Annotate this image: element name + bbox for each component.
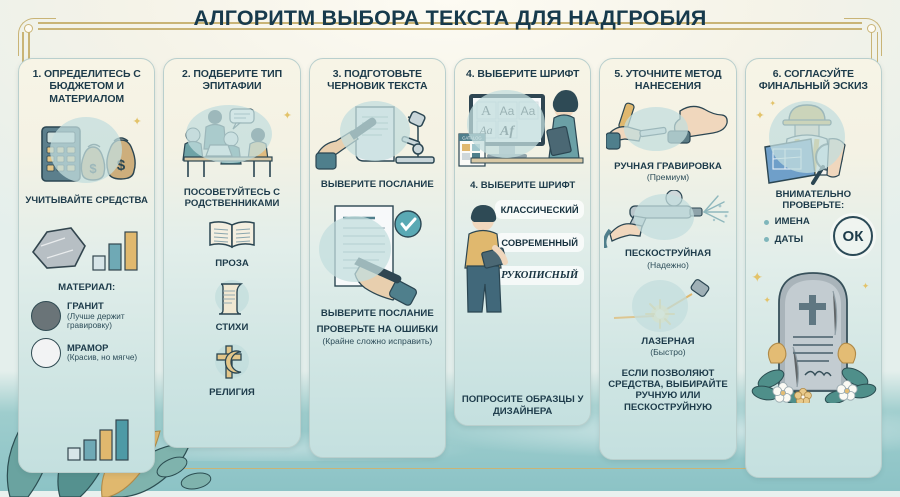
step-1-caption: УЧИТЫВАЙТЕ СРЕДСТВА [25,195,148,206]
infographic-root: АЛГОРИТМ ВЫБОРА ТЕКСТА ДЛЯ НАДГРОБИЯ 1. … [0,0,900,491]
bullet-icon [764,220,769,225]
step-4-footer: ПОПРОСИТЕ ОБРАЗЦЫ У ДИЗАЙНЕРА [461,394,584,417]
man-with-tablet-icon [457,204,509,316]
step-3-heading: 3. ПОДГОТОВЬТЕ ЧЕРНОВИК ТЕКСТА [316,68,439,93]
headstone-flowers-icon: ✦ ✦ ✦ [749,251,877,403]
epitaph-type-religion[interactable]: РЕЛИГИЯ [207,342,257,398]
hand-pen-microscope-icon [314,99,440,177]
method-3-name: ЛАЗЕРНАЯ [641,336,694,347]
cross-crescent-icon [207,342,257,382]
step-2-heading: 2. ПОДБЕРИТЕ ТИП ЭПИТАФИИ [170,68,293,93]
monitor-fonts-designer-icon: A Aa Aa Aa Af CATALOG [457,86,589,178]
page-title: АЛГОРИТМ ВЫБОРА ТЕКСТА ДЛЯ НАДГРОБИЯ [0,6,900,31]
laser-beam-icon [606,278,730,336]
step-5-heading: 5. УТОЧНИТЕ МЕТОД НАНЕСЕНИЯ [606,68,729,93]
step-4-caption: 4. ВЫБЕРИТЕ ШРИФТ [470,180,575,191]
method-2-note: (Надежно) [647,260,689,270]
scroll-icon [207,279,257,317]
granite-name: ГРАНИТ [67,301,148,311]
method-3-note: (Быстро) [650,347,685,357]
step-card-6[interactable]: 6. СОГЛАСУЙТЕ ФИНАЛЬНЫЙ ЭСКИЗ ✦ ✦ [745,58,882,478]
step-card-5[interactable]: 5. УТОЧНИТЕ МЕТОД НАНЕСЕНИЯ РУЧНАЯ ГРАВИ… [599,58,736,460]
step-6-caption: ВНИМАТЕЛЬНО ПРОВЕРЬТЕ: [752,189,875,212]
step-1-heading: 1. ОПРЕДЕЛИТЕСЬ С БЮДЖЕТОМ И МАТЕРИАЛОМ [25,68,148,105]
marble-name: МРАМОР [67,343,137,353]
method-2-name: ПЕСКОСТРУЙНАЯ [625,248,711,259]
granite-circle-icon [31,301,61,331]
steps-container: 1. ОПРЕДЕЛИТЕСЬ С БЮДЖЕТОМ И МАТЕРИАЛОМ … [18,58,882,478]
family-meeting-icon: ✦ [170,101,294,183]
step-6-heading: 6. СОГЛАСУЙТЕ ФИНАЛЬНЫЙ ЭСКИЗ [752,68,875,93]
marble-circle-icon [31,338,61,368]
step-4-heading: 4. ВЫБЕРИТЕ ШРИФТ [466,68,579,80]
proza-label: ПРОЗА [204,258,260,269]
hand-chisel-icon [606,99,730,161]
method-1-name: РУЧНАЯ ГРАВИРОВКА [614,161,722,172]
marble-note: (Красив, но мягче) [67,353,137,362]
checklist-dates-label: ДАТЫ [775,234,804,245]
step-3-caption-1: ВЫВЕРИТЕ ПОСЛАНИЕ [321,179,434,190]
document-check-hand-icon [313,200,441,308]
material-label: МАТЕРИАЛ: [58,282,115,293]
step-3-note: (Крайне сложно исправить) [322,336,432,346]
material-granite: ГРАНИТ (Лучше держит гравировку) [25,301,148,331]
step-2-caption: ПОСОВЕТУЙТЕСЬ С РОДСТВЕННИКАМИ [170,187,293,210]
epitaph-type-stihi[interactable]: СТИХИ [207,279,257,333]
barchart-icon [62,416,142,464]
step-card-2[interactable]: 2. ПОДБЕРИТЕ ТИП ЭПИТАФИИ ✦ [163,58,300,448]
religion-label: РЕЛИГИЯ [207,387,257,398]
stone-barchart-icon [25,216,149,278]
stihi-label: СТИХИ [207,322,257,333]
step-card-4[interactable]: 4. ВЫБЕРИТЕ ШРИФТ A Aa Aa Aa Af CATALO [454,58,591,426]
step-3-caption-3: ПРОВЕРЬТЕ НА ОШИБКИ [317,324,438,335]
sandblast-gun-icon [604,190,732,248]
method-1-note: (Премиум) [647,172,689,182]
material-marble: МРАМОР (Красив, но мягче) [25,338,148,368]
checklist-names-label: ИМЕНА [775,216,810,227]
step-5-footer: ЕСЛИ ПОЗВОЛЯЮТ СРЕДСТВА, ВЫБИРАЙТЕ РУЧНУ… [606,368,729,413]
epitaph-type-proza[interactable]: ПРОЗА [204,217,260,269]
step-card-3[interactable]: 3. ПОДГОТОВЬТЕ ЧЕРНОВИК ТЕКСТА [309,58,446,458]
calculator-moneybags-icon: ✦ $ $ [28,111,146,191]
granite-note: (Лучше держит гравировку) [67,312,148,330]
bullet-icon [764,237,769,242]
worker-blueprint-magnifier-icon: ✦ ✦ [751,97,875,189]
open-book-icon [204,217,260,253]
step-card-1[interactable]: 1. ОПРЕДЕЛИТЕСЬ С БЮДЖЕТОМ И МАТЕРИАЛОМ … [18,58,155,473]
